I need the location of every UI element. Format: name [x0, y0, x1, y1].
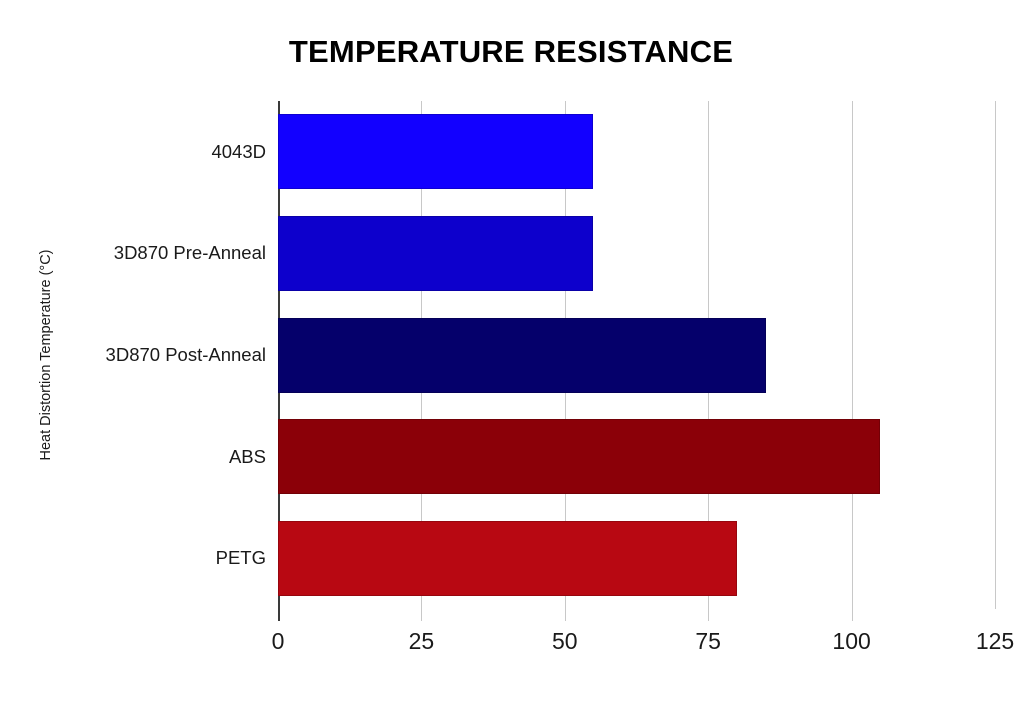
bar-4043d	[278, 114, 593, 189]
bar-petg	[278, 521, 737, 596]
x-tick-mark-50	[565, 609, 566, 621]
bar-3d870-pre-anneal	[278, 216, 593, 291]
gridline-100	[852, 101, 853, 609]
bar-chart: TEMPERATURE RESISTANCE Heat Distortion T…	[0, 0, 1022, 706]
gridline-125	[995, 101, 996, 609]
category-label-3d870-pre-anneal: 3D870 Pre-Anneal	[46, 241, 266, 265]
x-tick-mark-0	[278, 609, 280, 621]
x-tick-label-0: 0	[272, 628, 285, 655]
category-label-abs: ABS	[46, 444, 266, 468]
x-tick-label-75: 75	[695, 628, 721, 655]
x-tick-mark-100	[852, 609, 853, 621]
chart-title: TEMPERATURE RESISTANCE	[0, 34, 1022, 70]
x-tick-label-125: 125	[976, 628, 1014, 655]
category-label-4043d: 4043D	[46, 140, 266, 164]
x-tick-mark-25	[421, 609, 422, 621]
bar-3d870-post-anneal	[278, 318, 766, 393]
category-label-3d870-post-anneal: 3D870 Post-Anneal	[46, 343, 266, 367]
x-tick-label-25: 25	[409, 628, 435, 655]
category-axis-labels: 4043D3D870 Pre-Anneal3D870 Post-AnnealAB…	[38, 101, 266, 609]
x-tick-label-50: 50	[552, 628, 578, 655]
category-label-petg: PETG	[46, 546, 266, 570]
bar-abs	[278, 419, 880, 494]
x-tick-label-100: 100	[832, 628, 870, 655]
x-tick-mark-75	[708, 609, 709, 621]
plot-area: 0255075100125	[278, 101, 995, 609]
